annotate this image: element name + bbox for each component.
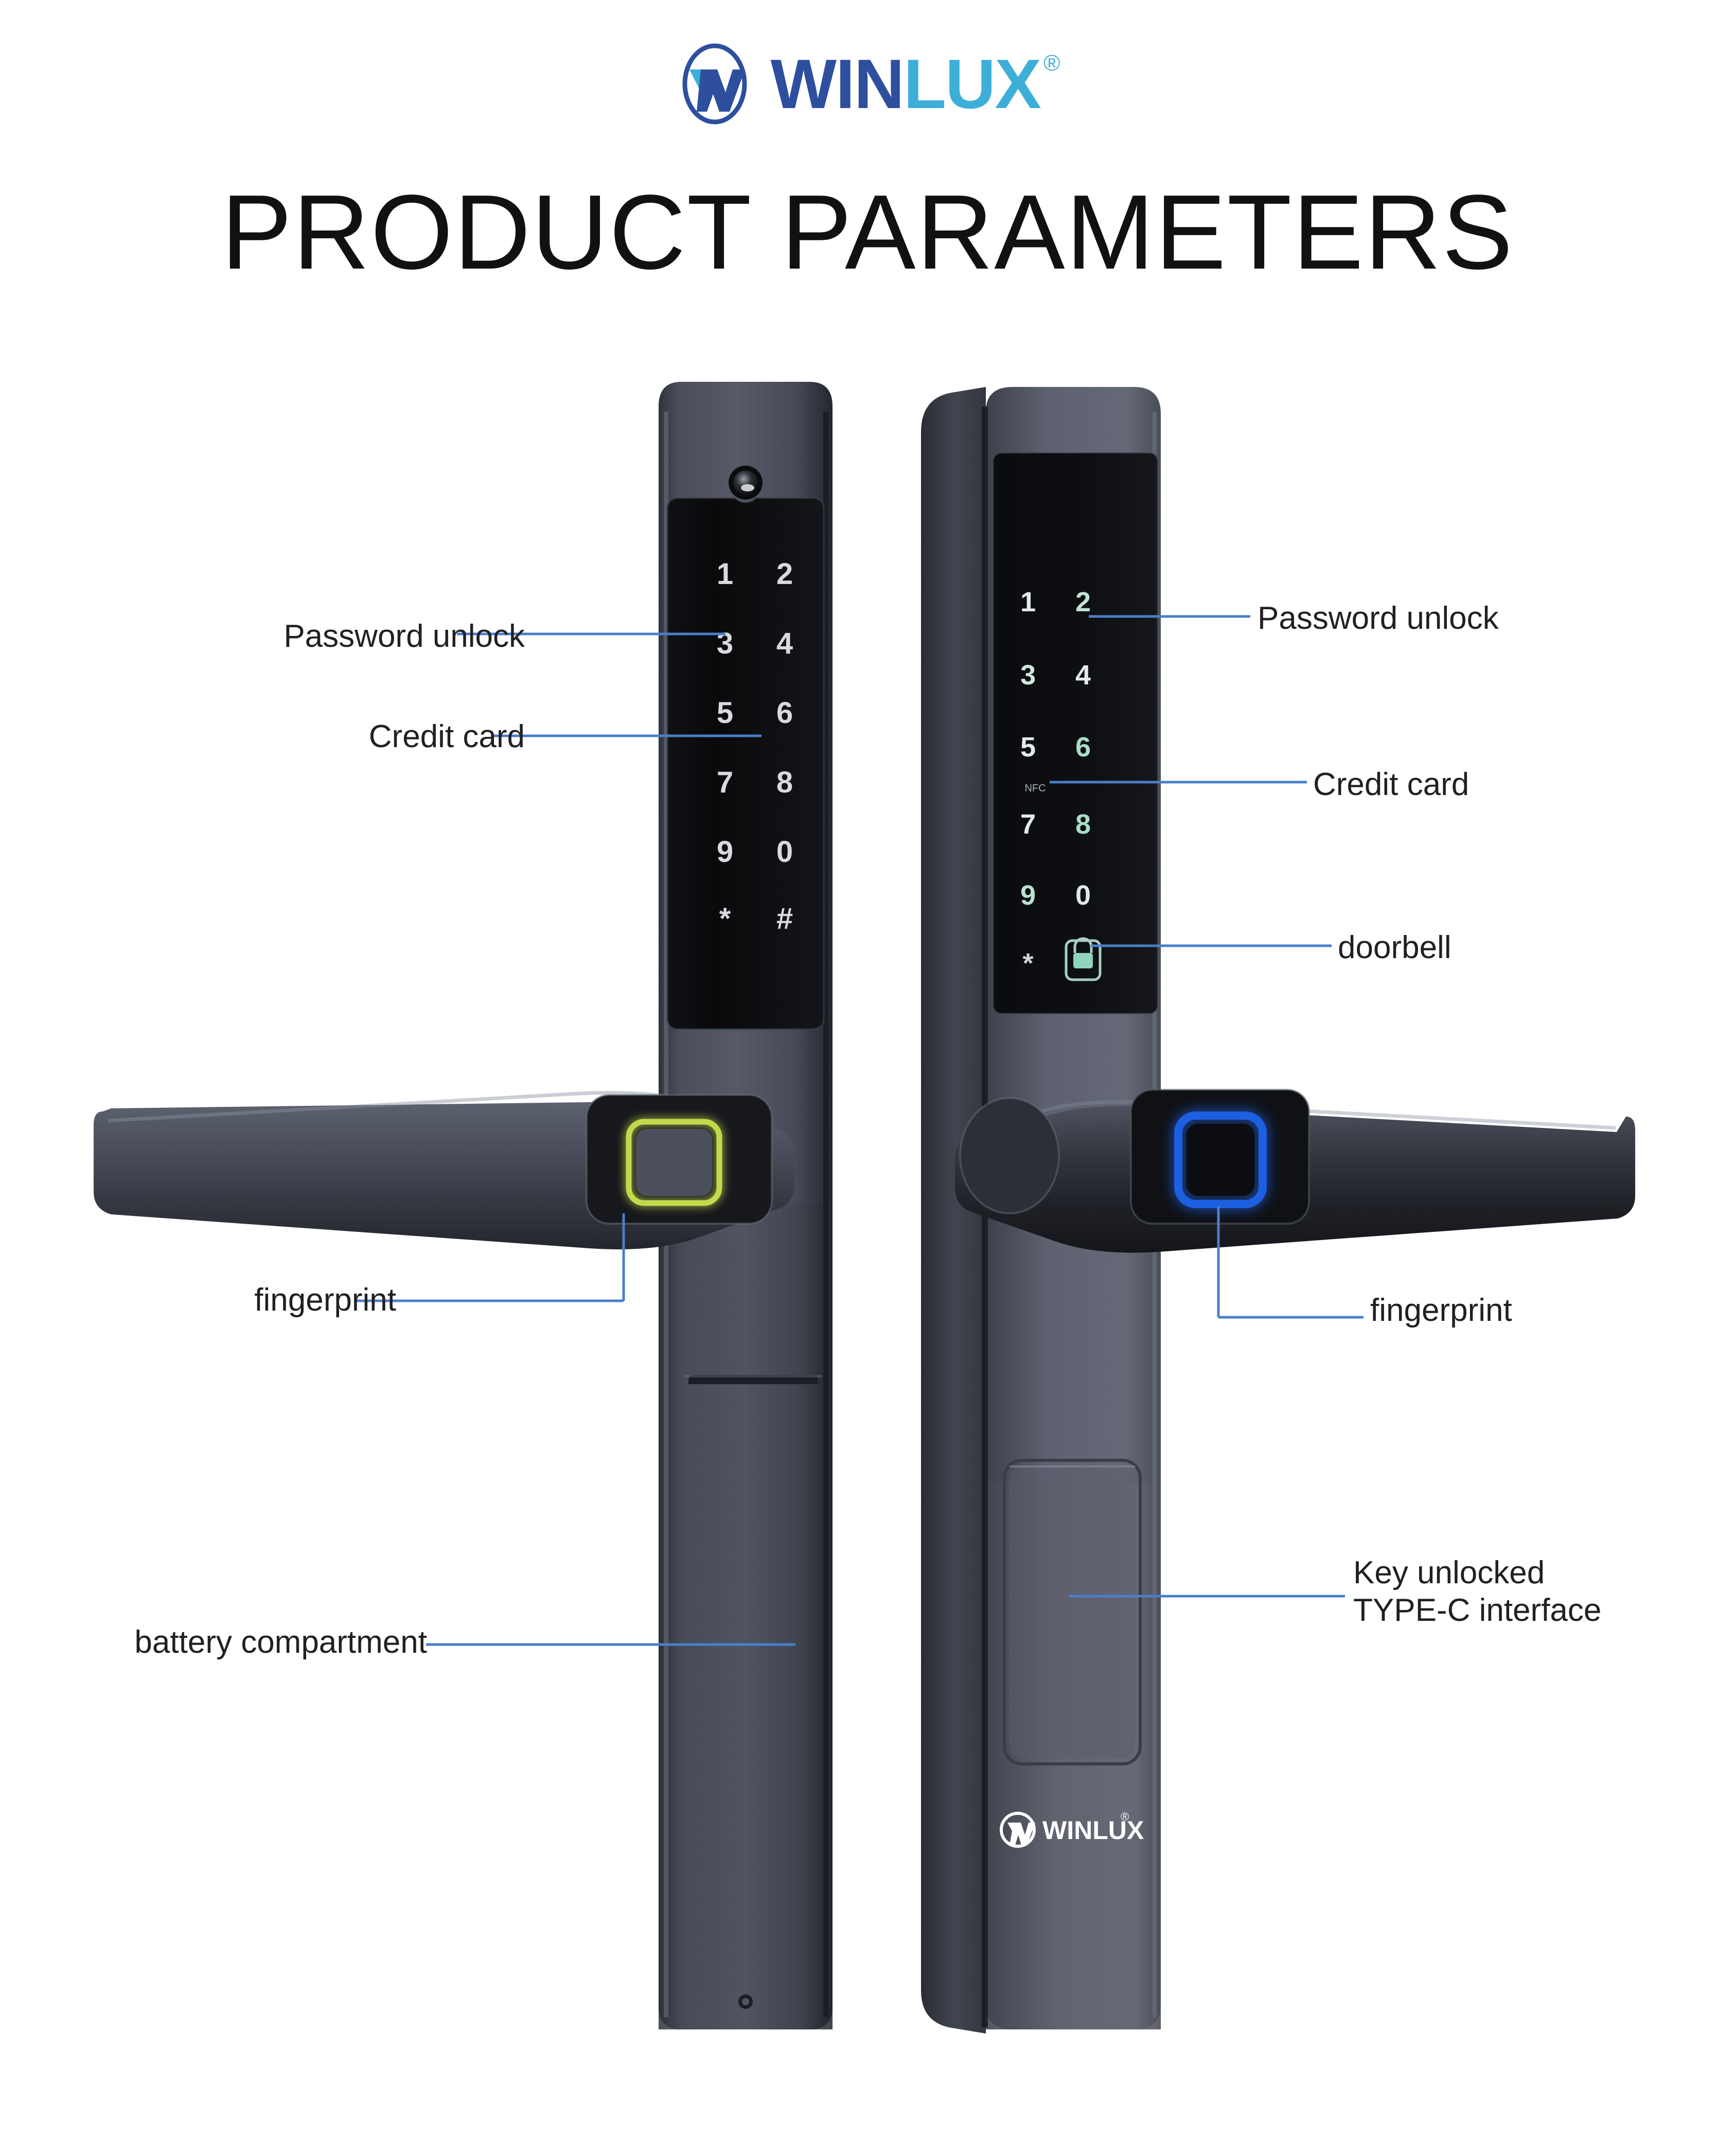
right-key-0[interactable]: 0 (1075, 880, 1091, 911)
callout-fingerprint-right: fingerprint (1370, 1292, 1730, 1329)
product-illustration-stage: 1 2 3 4 5 6 7 8 9 0 * # (0, 0, 1735, 2156)
callout-battery-compartment-left: battery compartment (77, 1623, 427, 1661)
right-key-2[interactable]: 2 (1075, 587, 1091, 617)
left-camera-glint (741, 484, 754, 491)
right-key-3[interactable]: 3 (1020, 660, 1036, 691)
callout-password-unlock-left: Password unlock (196, 617, 525, 655)
left-key-4[interactable]: 4 (776, 627, 793, 660)
nfc-label: NFC (1024, 783, 1046, 794)
left-key-6[interactable]: 6 (776, 696, 793, 730)
right-key-9[interactable]: 9 (1020, 880, 1036, 911)
badge-registered-mark: ® (1121, 1810, 1129, 1823)
right-key-star[interactable]: * (1022, 948, 1033, 979)
callout-doorbell-right: doorbell (1338, 929, 1698, 966)
left-bottom-screw-slot (742, 1998, 749, 2005)
left-key-9[interactable]: 9 (717, 835, 733, 869)
left-key-5[interactable]: 5 (717, 696, 733, 730)
left-key-hash[interactable]: # (776, 902, 793, 935)
left-key-2[interactable]: 2 (776, 557, 793, 591)
key-typec-cover-face[interactable] (1010, 1465, 1135, 1759)
callout-credit-card-right: Credit card (1313, 766, 1673, 803)
left-key-1[interactable]: 1 (717, 557, 733, 591)
battery-seam-highlight (684, 1375, 822, 1377)
right-key-1[interactable]: 1 (1020, 587, 1036, 617)
left-lock-lower-body (659, 1204, 833, 2029)
product-diagram-svg: 1 2 3 4 5 6 7 8 9 0 * # (0, 0, 1735, 2156)
left-key-0[interactable]: 0 (776, 835, 793, 869)
left-key-star[interactable]: * (719, 902, 731, 935)
callout-password-unlock-right: Password unlock (1258, 599, 1618, 637)
callout-key-typec-right: Key unlocked TYPE-C interface (1353, 1554, 1735, 1629)
right-key-5[interactable]: 5 (1020, 732, 1036, 763)
right-fingerprint-pad[interactable] (1187, 1124, 1254, 1196)
right-lock-winlux-badge: WINLUX ® (1001, 1810, 1144, 1846)
right-key-8[interactable]: 8 (1075, 809, 1091, 840)
right-key-4[interactable]: 4 (1075, 660, 1091, 691)
left-key-7[interactable]: 7 (717, 766, 733, 799)
left-key-8[interactable]: 8 (776, 766, 793, 799)
right-key-7[interactable]: 7 (1020, 809, 1036, 840)
callout-fingerprint-left: fingerprint (118, 1281, 396, 1319)
camera-lens-icon (733, 470, 758, 495)
callout-credit-card-left: Credit card (196, 718, 525, 755)
left-fingerprint-pad[interactable] (636, 1129, 712, 1196)
right-key-6[interactable]: 6 (1075, 732, 1091, 763)
left-key-3[interactable]: 3 (717, 627, 733, 660)
product-parameters-page: WINLUX® PRODUCT PARAMETERS (0, 0, 1735, 2156)
left-keypad-panel (667, 498, 824, 1029)
